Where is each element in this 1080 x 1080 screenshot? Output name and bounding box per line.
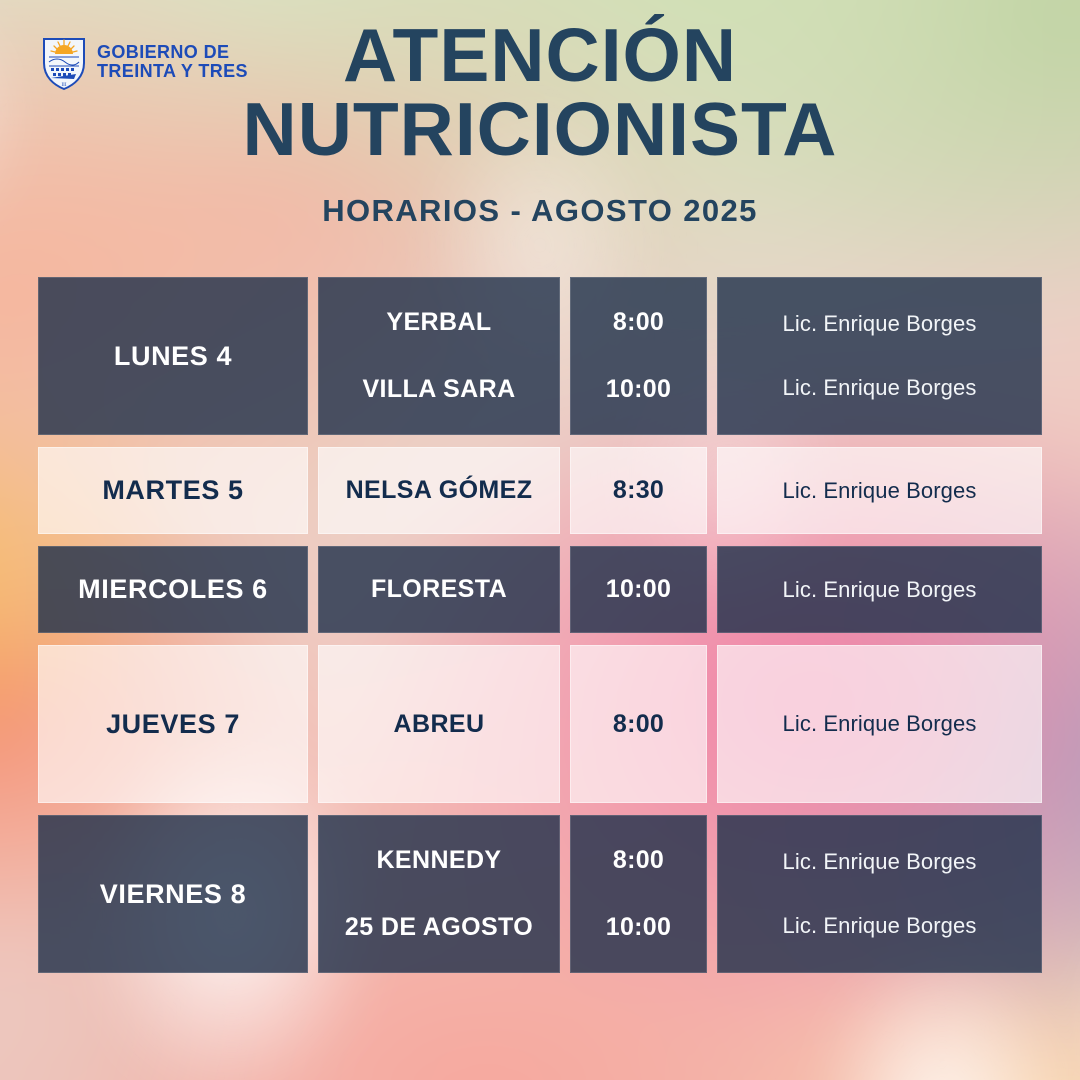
time-label: 10:00: [606, 575, 671, 604]
day-label: LUNES 4: [114, 341, 232, 372]
place-label: ABREU: [394, 710, 485, 739]
time-label: 8:00: [613, 846, 664, 875]
professional-label-stack: Lic. Enrique Borges: [717, 447, 1042, 534]
time-label-stack: 8:0010:00: [570, 277, 707, 435]
place-label-stack: NELSA GÓMEZ: [318, 447, 560, 534]
time-label-stack: 8:00: [570, 645, 707, 803]
professional-cell: Lic. Enrique Borges: [717, 447, 1042, 534]
day-cell: VIERNES 8: [38, 815, 308, 973]
place-cell: KENNEDY25 DE AGOSTO: [318, 815, 560, 973]
time-label: 8:30: [613, 476, 664, 505]
professional-label: Lic. Enrique Borges: [783, 849, 977, 875]
place-label: NELSA GÓMEZ: [346, 476, 533, 505]
place-label-stack: YERBALVILLA SARA: [318, 277, 560, 435]
professional-cell: Lic. Enrique Borges: [717, 645, 1042, 803]
professional-label: Lic. Enrique Borges: [783, 577, 977, 603]
place-label: FLORESTA: [371, 575, 507, 604]
time-cell: 8:30: [570, 447, 707, 534]
poster-header: III GOBIERNO DE TREINTA Y TRES ATENCIÓN …: [0, 0, 1080, 229]
professional-label: Lic. Enrique Borges: [783, 375, 977, 401]
place-cell: FLORESTA: [318, 546, 560, 633]
day-label: MIERCOLES 6: [78, 574, 268, 605]
treinta-y-tres-shield-icon: III: [40, 33, 88, 91]
table-row: MIERCOLES 6FLORESTA10:00Lic. Enrique Bor…: [38, 546, 1042, 633]
government-logo: III GOBIERNO DE TREINTA Y TRES: [40, 33, 248, 91]
professional-label: Lic. Enrique Borges: [783, 478, 977, 504]
time-label: 8:00: [613, 308, 664, 337]
time-label: 10:00: [606, 913, 671, 942]
time-label-stack: 10:00: [570, 546, 707, 633]
poster-canvas: III GOBIERNO DE TREINTA Y TRES ATENCIÓN …: [0, 0, 1080, 1080]
professional-cell: Lic. Enrique Borges: [717, 546, 1042, 633]
place-label-stack: FLORESTA: [318, 546, 560, 633]
professional-cell: Lic. Enrique BorgesLic. Enrique Borges: [717, 277, 1042, 435]
time-cell: 10:00: [570, 546, 707, 633]
professional-label-stack: Lic. Enrique BorgesLic. Enrique Borges: [717, 277, 1042, 435]
table-row: VIERNES 8KENNEDY25 DE AGOSTO8:0010:00Lic…: [38, 815, 1042, 973]
professional-label: Lic. Enrique Borges: [783, 913, 977, 939]
svg-text:III: III: [62, 83, 67, 88]
time-label: 10:00: [606, 375, 671, 404]
title-line-1: ATENCIÓN: [343, 13, 737, 97]
place-label: VILLA SARA: [362, 375, 515, 404]
time-label: 8:00: [613, 710, 664, 739]
place-label-stack: KENNEDY25 DE AGOSTO: [318, 815, 560, 973]
day-label: MARTES 5: [102, 475, 243, 506]
time-cell: 8:0010:00: [570, 815, 707, 973]
schedule-table: LUNES 4YERBALVILLA SARA8:0010:00Lic. Enr…: [38, 277, 1042, 973]
government-logo-text: GOBIERNO DE TREINTA Y TRES: [97, 43, 248, 82]
time-cell: 8:0010:00: [570, 277, 707, 435]
day-label: JUEVES 7: [106, 709, 240, 740]
logo-line-2: TREINTA Y TRES: [97, 62, 248, 81]
page-subtitle: HORARIOS - AGOSTO 2025: [0, 193, 1080, 229]
professional-label: Lic. Enrique Borges: [783, 311, 977, 337]
professional-label: Lic. Enrique Borges: [783, 711, 977, 737]
place-cell: YERBALVILLA SARA: [318, 277, 560, 435]
day-cell: MIERCOLES 6: [38, 546, 308, 633]
time-label-stack: 8:30: [570, 447, 707, 534]
time-cell: 8:00: [570, 645, 707, 803]
professional-label-stack: Lic. Enrique BorgesLic. Enrique Borges: [717, 815, 1042, 973]
professional-label-stack: Lic. Enrique Borges: [717, 645, 1042, 803]
day-cell: LUNES 4: [38, 277, 308, 435]
title-line-2: NUTRICIONISTA: [243, 87, 838, 171]
table-row: JUEVES 7ABREU8:00Lic. Enrique Borges: [38, 645, 1042, 803]
day-label: VIERNES 8: [100, 879, 246, 910]
place-label: KENNEDY: [376, 846, 501, 875]
time-label-stack: 8:0010:00: [570, 815, 707, 973]
place-label: 25 DE AGOSTO: [345, 913, 533, 942]
day-cell: MARTES 5: [38, 447, 308, 534]
place-cell: NELSA GÓMEZ: [318, 447, 560, 534]
table-row: LUNES 4YERBALVILLA SARA8:0010:00Lic. Enr…: [38, 277, 1042, 435]
professional-label-stack: Lic. Enrique Borges: [717, 546, 1042, 633]
table-row: MARTES 5NELSA GÓMEZ8:30Lic. Enrique Borg…: [38, 447, 1042, 534]
logo-line-1: GOBIERNO DE: [97, 43, 248, 62]
day-cell: JUEVES 7: [38, 645, 308, 803]
place-label: YERBAL: [386, 308, 491, 337]
place-label-stack: ABREU: [318, 645, 560, 803]
place-cell: ABREU: [318, 645, 560, 803]
professional-cell: Lic. Enrique BorgesLic. Enrique Borges: [717, 815, 1042, 973]
